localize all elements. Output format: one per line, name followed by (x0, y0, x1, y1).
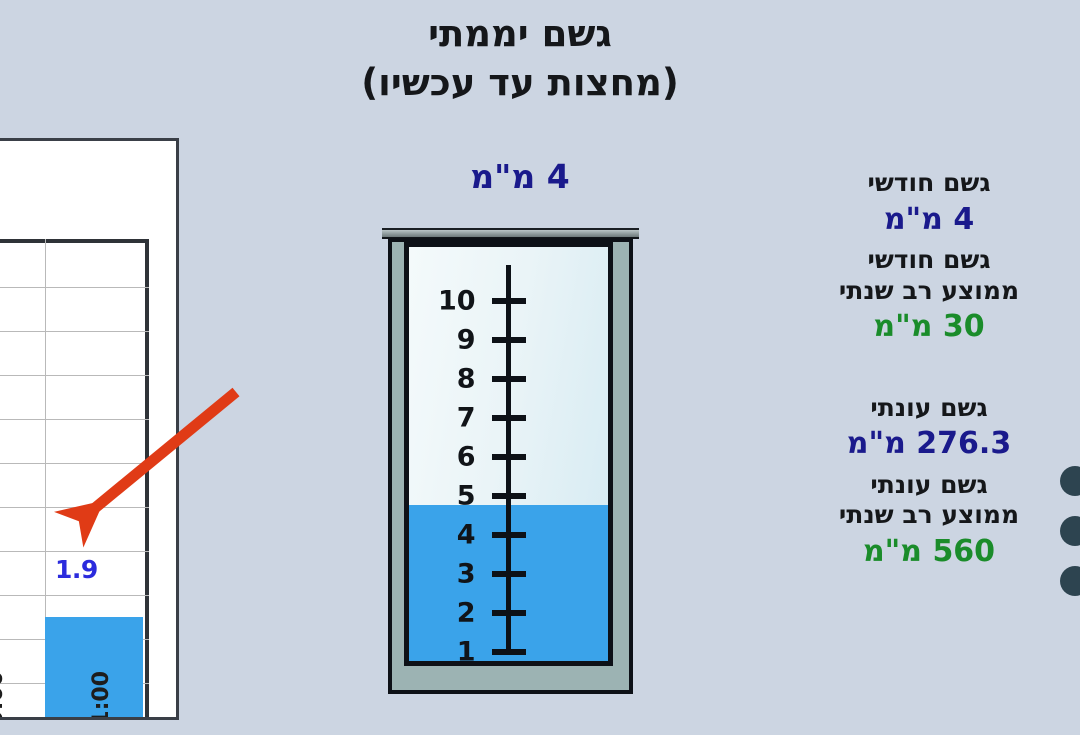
gridline (0, 463, 149, 464)
gauge-tick-7 (492, 415, 526, 421)
gauge-label-4: 4 (457, 522, 476, 549)
gauge-tick-4 (492, 532, 526, 538)
stat-monthly-average: גשם חודשי ממוצע רב שנתי 30 מ"מ (814, 245, 1044, 349)
gauge-body: 10 9 8 7 6 5 4 3 2 1 (388, 238, 633, 694)
stat-seasonal-average: גשם עונתי ממוצע רב שנתי 560 מ"מ (814, 470, 1044, 574)
gauge-label-8: 8 (457, 366, 476, 393)
stat-value-monthly-rain: 4 מ"מ (814, 199, 1044, 242)
xtick-label-10-00: 10:00 (0, 671, 8, 720)
gauge-tick-1 (492, 649, 526, 655)
stat-monthly-rain: גשם חודשי 4 מ"מ (814, 168, 1044, 241)
stats-spacer (814, 353, 1044, 393)
center-column: גשם יממתי (מחצות עד עכשיו) 4 מ"מ (200, 0, 840, 735)
app-root: 1.9 10:00 11:00 גשם יממתי (מחצות עד עכשי… (0, 0, 1080, 735)
gauge-label-10: 10 (438, 288, 476, 315)
gauge-tick-5 (492, 493, 526, 499)
gridline (0, 287, 149, 288)
gauge-label-7: 7 (457, 405, 476, 432)
stat-value-seasonal-average: 560 מ"מ (814, 531, 1044, 574)
gauge-label-6: 6 (457, 444, 476, 471)
gauge-tick-2 (492, 610, 526, 616)
page-title: גשם יממתי (מחצות עד עכשיו) (200, 10, 840, 108)
stat-label-monthly-average-line2: ממוצע רב שנתי (814, 276, 1044, 307)
gauge-tick-3 (492, 571, 526, 577)
gauge-label-9: 9 (457, 327, 476, 354)
stat-label-monthly-rain: גשם חודשי (814, 168, 1044, 199)
bar-chart-panel: 1.9 10:00 11:00 (0, 138, 179, 720)
page-title-line2: (מחצות עד עכשיו) (200, 59, 840, 108)
stat-value-seasonal-rain: 276.3 מ"מ (814, 423, 1044, 466)
gridline (0, 331, 149, 332)
gauge-label-3: 3 (457, 561, 476, 588)
bar-value-label: 1.9 (55, 555, 98, 584)
plot-area: 1.9 10:00 11:00 (0, 239, 149, 720)
gauge-tick-9 (492, 337, 526, 343)
page-title-line1: גשם יממתי (428, 12, 612, 55)
gauge-tick-6 (492, 454, 526, 460)
gauge-tick-8 (492, 376, 526, 382)
gridline (0, 551, 149, 552)
stat-label-seasonal-average-line2: ממוצע רב שנתי (814, 500, 1044, 531)
gridline (0, 507, 149, 508)
edge-dot[interactable] (1060, 466, 1080, 496)
xtick-label-11-00: 11:00 (89, 671, 114, 720)
edge-dots-group (1050, 466, 1080, 616)
statistics-column: גשם חודשי 4 מ"מ גשם חודשי ממוצע רב שנתי … (814, 168, 1044, 577)
gauge-label-1: 1 (457, 639, 476, 666)
stat-value-monthly-average: 30 מ"מ (814, 306, 1044, 349)
gridline (0, 595, 149, 596)
gauge-inner-chamber: 10 9 8 7 6 5 4 3 2 1 (404, 242, 613, 666)
gauge-label-5: 5 (457, 483, 476, 510)
edge-dot[interactable] (1060, 566, 1080, 596)
gauge-tick-10 (492, 298, 526, 304)
gauge-label-2: 2 (457, 600, 476, 627)
stat-label-seasonal-rain: גשם עונתי (814, 393, 1044, 424)
daily-rain-amount: 4 מ"מ (200, 157, 840, 196)
gridline (0, 419, 149, 420)
stat-seasonal-rain: גשם עונתי 276.3 מ"מ (814, 393, 1044, 466)
stat-label-monthly-average-line1: גשם חודשי (814, 245, 1044, 276)
edge-dot[interactable] (1060, 516, 1080, 546)
stat-label-seasonal-average-line1: גשם עונתי (814, 470, 1044, 501)
rain-gauge-graphic: 10 9 8 7 6 5 4 3 2 1 (378, 228, 643, 694)
gridline (0, 375, 149, 376)
